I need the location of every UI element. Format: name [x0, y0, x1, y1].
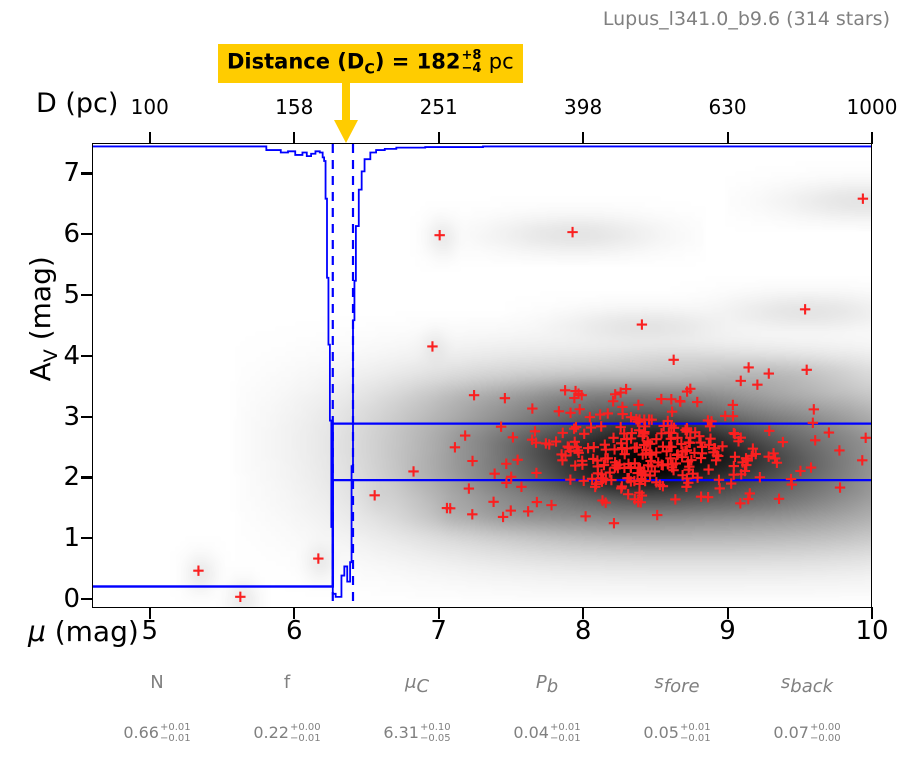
star-marker	[675, 396, 685, 406]
star-marker	[565, 474, 575, 484]
star-marker	[860, 433, 870, 443]
star-marker	[500, 393, 510, 403]
parameter-uncertainty: +0.01−0.01	[160, 723, 191, 744]
parameter-symbol: μ	[405, 672, 416, 693]
star-marker	[554, 406, 564, 416]
y-tick-label-3: 3	[58, 402, 80, 432]
star-marker	[778, 437, 788, 447]
parameter-err-down: −0.01	[160, 734, 191, 745]
star-marker	[623, 489, 633, 499]
star-marker	[450, 442, 460, 452]
star-marker	[774, 494, 784, 504]
y-tick-label-2: 2	[58, 462, 80, 492]
top-tick-label-398: 398	[564, 95, 602, 119]
star-marker	[467, 456, 477, 466]
star-marker	[469, 390, 479, 400]
scatter-markers	[193, 194, 871, 603]
mu-symbol: μ	[28, 615, 46, 648]
star-marker	[703, 464, 713, 474]
star-marker	[523, 506, 533, 516]
star-marker	[764, 426, 774, 436]
star-marker	[801, 365, 811, 375]
parameter-uncertainty: +0.01−0.01	[550, 723, 581, 744]
figure-title: Lupus_l341.0_b9.6 (314 stars)	[603, 8, 890, 30]
parameter-symbol: N	[150, 672, 163, 693]
top-tick-label-100: 100	[131, 95, 169, 119]
parameter-subscript: fore	[664, 676, 700, 697]
star-marker	[460, 430, 470, 440]
star-marker	[235, 592, 245, 602]
annotation-errorbars: +8−4	[461, 49, 481, 76]
star-marker	[668, 355, 678, 365]
parameter-names-row: NfμCPbsforesback	[92, 672, 872, 697]
star-marker	[656, 394, 666, 404]
star-marker	[567, 227, 577, 237]
parameter-err-down: −0.01	[290, 734, 321, 745]
bottom-tick-label-10: 10	[855, 616, 888, 646]
star-marker	[501, 459, 511, 469]
bottom-tick-label-8: 8	[575, 616, 592, 646]
y-tick-label-0: 0	[58, 584, 80, 614]
star-marker	[692, 397, 702, 407]
extinction-distance-figure: Lupus_l341.0_b9.6 (314 stars) Distance (…	[0, 0, 902, 759]
star-marker	[795, 466, 805, 476]
star-marker	[512, 455, 522, 465]
star-marker	[810, 435, 820, 445]
star-marker	[560, 385, 570, 395]
parameter-name-cell: f	[222, 672, 352, 697]
star-marker	[498, 512, 508, 522]
parameter-symbol: P	[536, 672, 547, 693]
bottom-tick-label-7: 7	[430, 616, 447, 646]
annotation-unit: pc	[489, 49, 514, 73]
star-marker	[531, 468, 541, 478]
star-marker	[506, 505, 516, 515]
parameter-value-cell: 6.31+0.10−0.05	[352, 723, 482, 744]
parameter-uncertainty: +0.00−0.01	[290, 723, 321, 744]
star-marker	[705, 434, 715, 444]
plot-area	[92, 143, 872, 608]
star-marker	[764, 368, 774, 378]
top-tick-label-630: 630	[708, 95, 746, 119]
star-marker	[745, 488, 755, 498]
star-marker	[508, 432, 518, 442]
star-marker	[585, 412, 595, 422]
tick-mark	[438, 607, 440, 619]
star-marker	[464, 483, 474, 493]
parameter-value-cell: 0.66+0.01−0.01	[92, 723, 222, 744]
star-marker	[696, 491, 706, 501]
parameter-uncertainty: +0.01−0.01	[680, 723, 711, 744]
parameter-name-cell: Pb	[482, 672, 612, 697]
parameter-symbol: s	[781, 672, 790, 693]
parameter-value: 0.04	[513, 723, 549, 742]
top-tick-label-1000: 1000	[847, 95, 898, 119]
star-marker	[808, 418, 818, 428]
tick-mark	[871, 607, 873, 619]
tick-mark	[582, 607, 584, 619]
annotation-subscript: C	[364, 61, 374, 77]
parameter-name-cell: sfore	[612, 672, 742, 697]
star-marker	[489, 469, 499, 479]
star-marker	[858, 194, 868, 204]
bottom-axis-label-rest: (mag)	[46, 615, 139, 648]
star-marker	[800, 304, 810, 314]
star-marker	[752, 379, 762, 389]
star-marker	[809, 404, 819, 414]
star-marker	[488, 497, 498, 507]
bottom-axis-label: μ (mag)	[28, 615, 139, 648]
parameter-name-cell: N	[92, 672, 222, 697]
star-marker	[667, 406, 677, 416]
star-marker	[714, 475, 724, 485]
star-marker	[467, 509, 477, 519]
star-marker	[786, 474, 796, 484]
star-marker	[589, 442, 599, 452]
star-marker	[806, 462, 816, 472]
star-marker	[600, 453, 610, 463]
star-marker	[652, 510, 662, 520]
annotation-err-down: −4	[461, 62, 481, 75]
y-tick-label-6: 6	[58, 219, 80, 249]
bottom-tick-label-9: 9	[719, 616, 736, 646]
star-marker	[637, 319, 647, 329]
star-marker	[666, 394, 676, 404]
star-marker	[603, 408, 613, 418]
star-marker	[743, 362, 753, 372]
top-axis-label: D (pc)	[36, 88, 118, 119]
star-marker	[579, 429, 589, 439]
parameter-uncertainty: +0.10−0.05	[420, 723, 451, 744]
star-marker	[369, 490, 379, 500]
star-marker	[427, 341, 437, 351]
star-marker	[670, 494, 680, 504]
bottom-tick-label-5: 5	[141, 616, 158, 646]
star-marker	[720, 411, 730, 421]
star-marker	[606, 475, 616, 485]
star-marker	[579, 476, 589, 486]
star-marker	[736, 376, 746, 386]
parameter-err-down: −0.01	[550, 734, 581, 745]
star-marker	[717, 441, 727, 451]
star-marker	[532, 497, 542, 507]
plot-overlay	[93, 144, 872, 608]
star-marker	[434, 230, 444, 240]
star-marker	[824, 427, 834, 437]
star-marker	[609, 518, 619, 528]
star-marker	[516, 482, 526, 492]
parameter-value-cell: 0.22+0.00−0.01	[222, 723, 352, 744]
star-marker	[610, 389, 620, 399]
star-marker	[601, 444, 611, 454]
parameter-err-down: −0.05	[420, 734, 451, 745]
parameter-value: 0.07	[773, 723, 809, 742]
parameter-subscript: b	[547, 676, 558, 697]
parameter-value: 0.22	[253, 723, 289, 742]
star-marker	[630, 443, 640, 453]
star-marker	[728, 400, 738, 410]
star-marker	[313, 553, 323, 563]
distance-annotation: Distance (DC) = 182+8−4 pc	[218, 44, 523, 83]
star-marker	[580, 511, 590, 521]
parameter-name-cell: sback	[742, 672, 872, 697]
star-marker	[857, 455, 867, 465]
parameter-value-cell: 0.07+0.00−0.00	[742, 723, 872, 744]
top-tick-label-158: 158	[275, 95, 313, 119]
av-symbol: A	[24, 362, 57, 381]
tick-mark	[149, 607, 151, 619]
parameter-name-cell: μC	[352, 672, 482, 697]
annotation-err-up: +8	[461, 49, 481, 62]
star-marker	[656, 428, 666, 438]
y-axis-label: AV (mag)	[24, 204, 62, 434]
star-marker	[569, 423, 579, 433]
tick-mark	[293, 607, 295, 619]
y-tick-label-4: 4	[58, 341, 80, 371]
star-marker	[574, 404, 584, 414]
star-marker	[730, 452, 740, 462]
parameter-symbol: f	[284, 672, 290, 693]
star-marker	[608, 433, 618, 443]
star-marker	[558, 428, 568, 438]
star-marker	[633, 400, 643, 410]
parameter-uncertainty: +0.00−0.00	[810, 723, 841, 744]
y-axis-label-rest: (mag)	[24, 256, 57, 349]
parameter-subscript: C	[416, 676, 429, 697]
annotation-arrow-icon	[332, 80, 360, 144]
star-marker	[595, 409, 605, 419]
model-lower-step-line	[93, 480, 872, 586]
parameter-err-down: −0.01	[680, 734, 711, 745]
parameter-value: 0.05	[643, 723, 679, 742]
star-marker	[616, 483, 626, 493]
star-marker	[728, 470, 738, 480]
y-tick-label-7: 7	[58, 158, 80, 188]
star-marker	[527, 403, 537, 413]
parameter-err-down: −0.00	[810, 734, 841, 745]
bottom-tick-label-6: 6	[286, 616, 303, 646]
star-marker	[834, 445, 844, 455]
y-tick-label-1: 1	[58, 523, 80, 553]
star-marker	[408, 466, 418, 476]
parameter-value-cell: 0.04+0.01−0.01	[482, 723, 612, 744]
annotation-mid: ) = 182	[375, 49, 461, 73]
annotation-prefix: Distance (D	[227, 49, 364, 73]
top-tick-label-251: 251	[420, 95, 458, 119]
star-marker	[835, 482, 845, 492]
parameter-subscript: back	[790, 676, 833, 697]
star-marker	[193, 566, 203, 576]
tick-mark	[727, 607, 729, 619]
star-marker	[565, 408, 575, 418]
y-tick-label-5: 5	[58, 280, 80, 310]
parameter-value: 6.31	[383, 723, 419, 742]
parameter-value-cell: 0.05+0.01−0.01	[612, 723, 742, 744]
star-marker	[608, 396, 618, 406]
star-marker	[546, 500, 556, 510]
likelihood-step-curve	[93, 146, 872, 596]
parameter-values-row: 0.66+0.01−0.010.22+0.00−0.016.31+0.10−0.…	[92, 723, 872, 744]
parameter-value: 0.66	[123, 723, 159, 742]
parameter-table: NfμCPbsforesback 0.66+0.01−0.010.22+0.00…	[92, 672, 872, 752]
parameter-symbol: s	[654, 672, 663, 693]
